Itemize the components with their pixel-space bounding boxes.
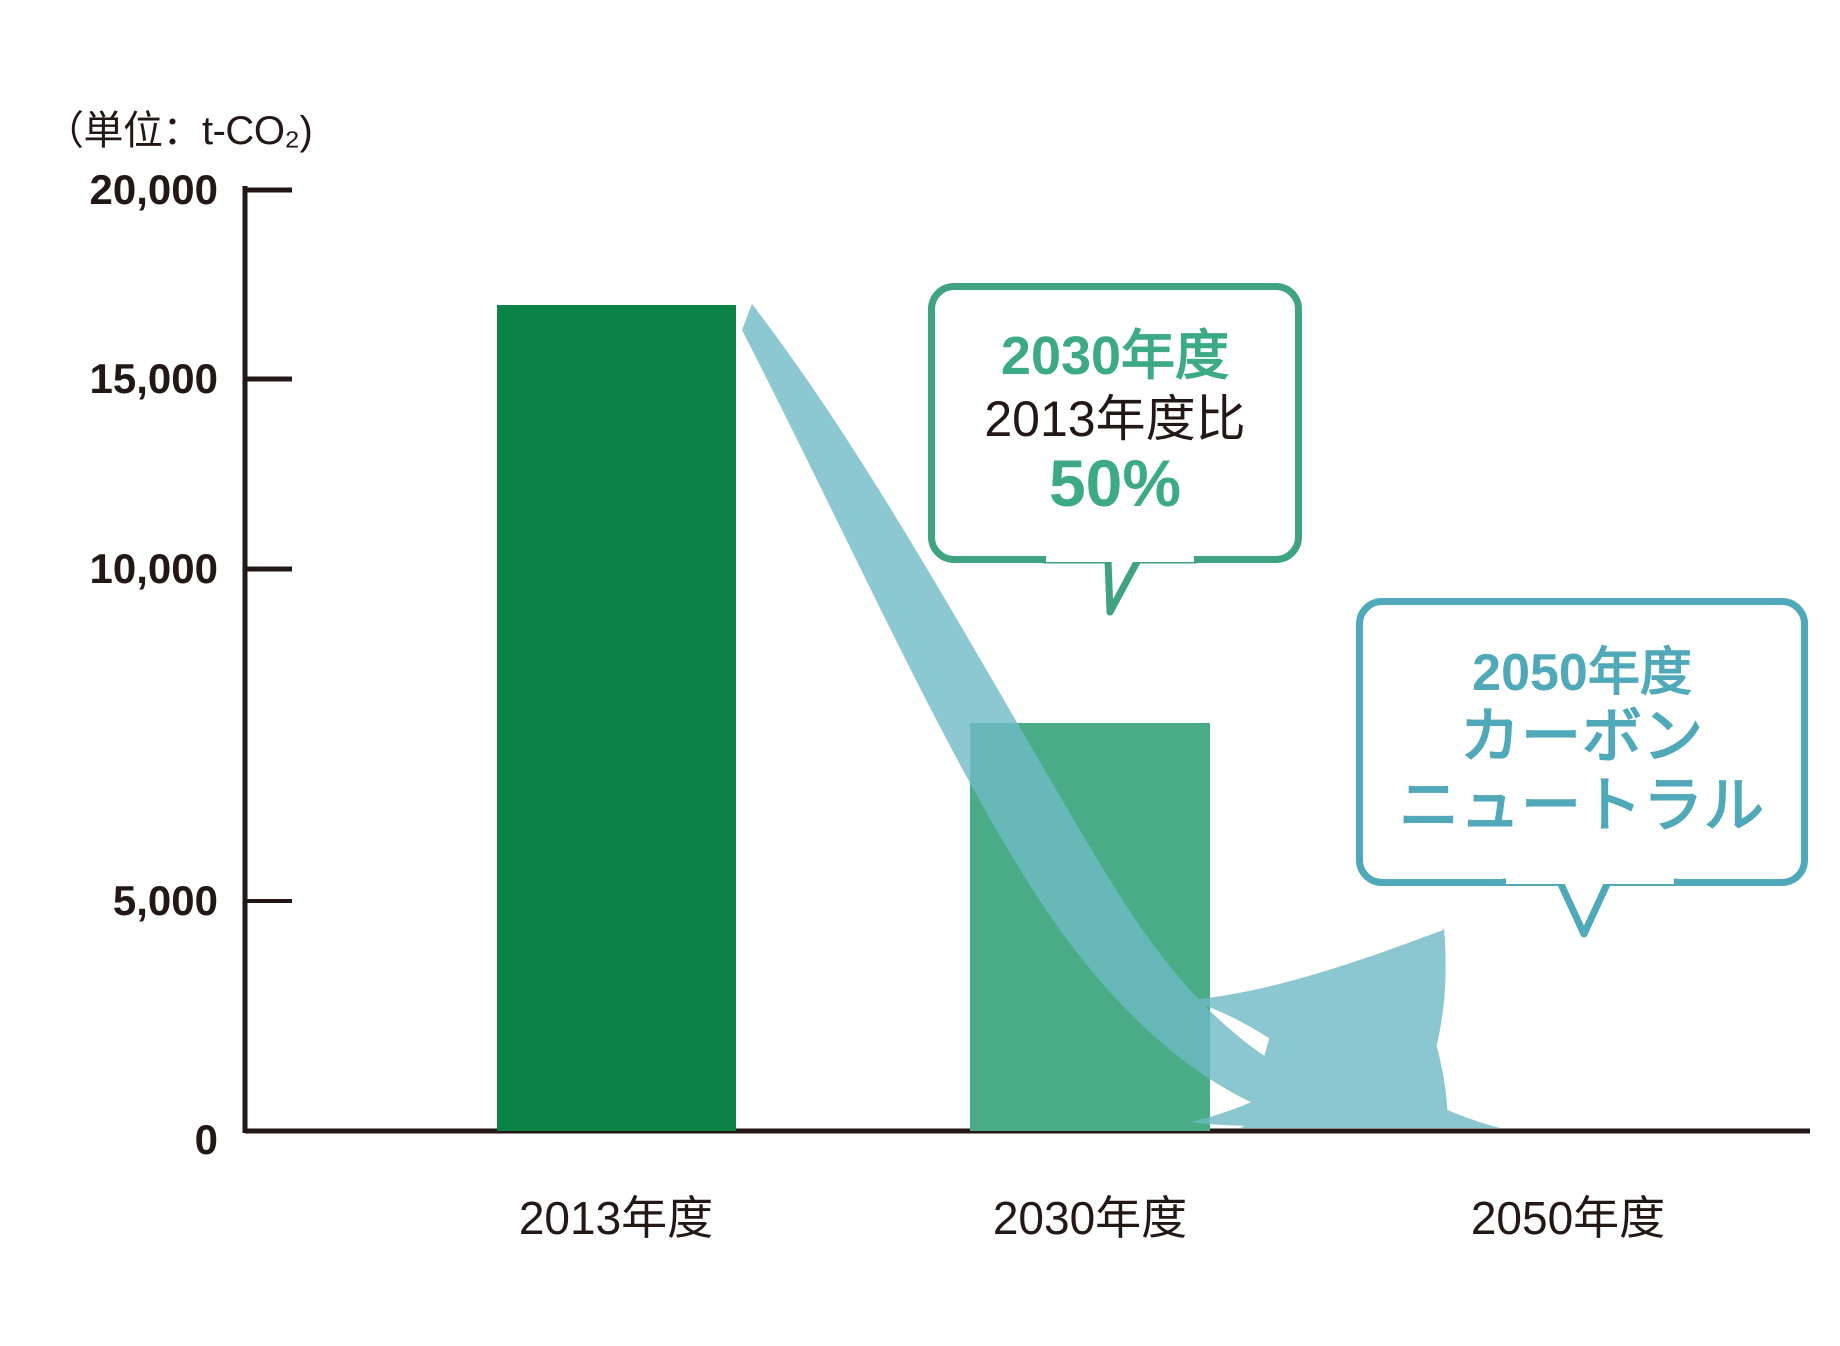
- callout-2030-pct: 50%: [1049, 448, 1181, 519]
- callout-2030-head: 2030年度: [1001, 327, 1229, 385]
- xtick-label-2050: 2050年度: [1471, 1182, 1665, 1248]
- bar-2030: [970, 723, 1210, 1131]
- callout-2030-sub: 2013年度比: [984, 392, 1245, 446]
- ytick-label-20000: 20,000: [90, 166, 218, 214]
- ytick-label-15000: 15,000: [90, 355, 218, 403]
- ytick-label-5000: 5,000: [113, 877, 218, 925]
- ytick-label-0: 0: [195, 1116, 218, 1164]
- xtick-label-2030: 2030年度: [993, 1182, 1187, 1248]
- ytick-label-10000: 10,000: [90, 545, 218, 593]
- callout-2050-line1: カーボン: [1460, 705, 1704, 770]
- bar-2013: [497, 305, 736, 1131]
- callout-2050-line2: ニュートラル: [1399, 774, 1765, 839]
- callout-2030[interactable]: 2030年度 2013年度比 50%: [928, 283, 1302, 563]
- callout-2050[interactable]: 2050年度 カーボン ニュートラル: [1356, 598, 1808, 886]
- xtick-label-2013: 2013年度: [519, 1182, 713, 1248]
- chart-canvas: （単位：t-CO₂) 20,000 15,000 10,000 5,000 0: [0, 0, 1840, 1346]
- callout-2050-head: 2050年度: [1472, 645, 1692, 701]
